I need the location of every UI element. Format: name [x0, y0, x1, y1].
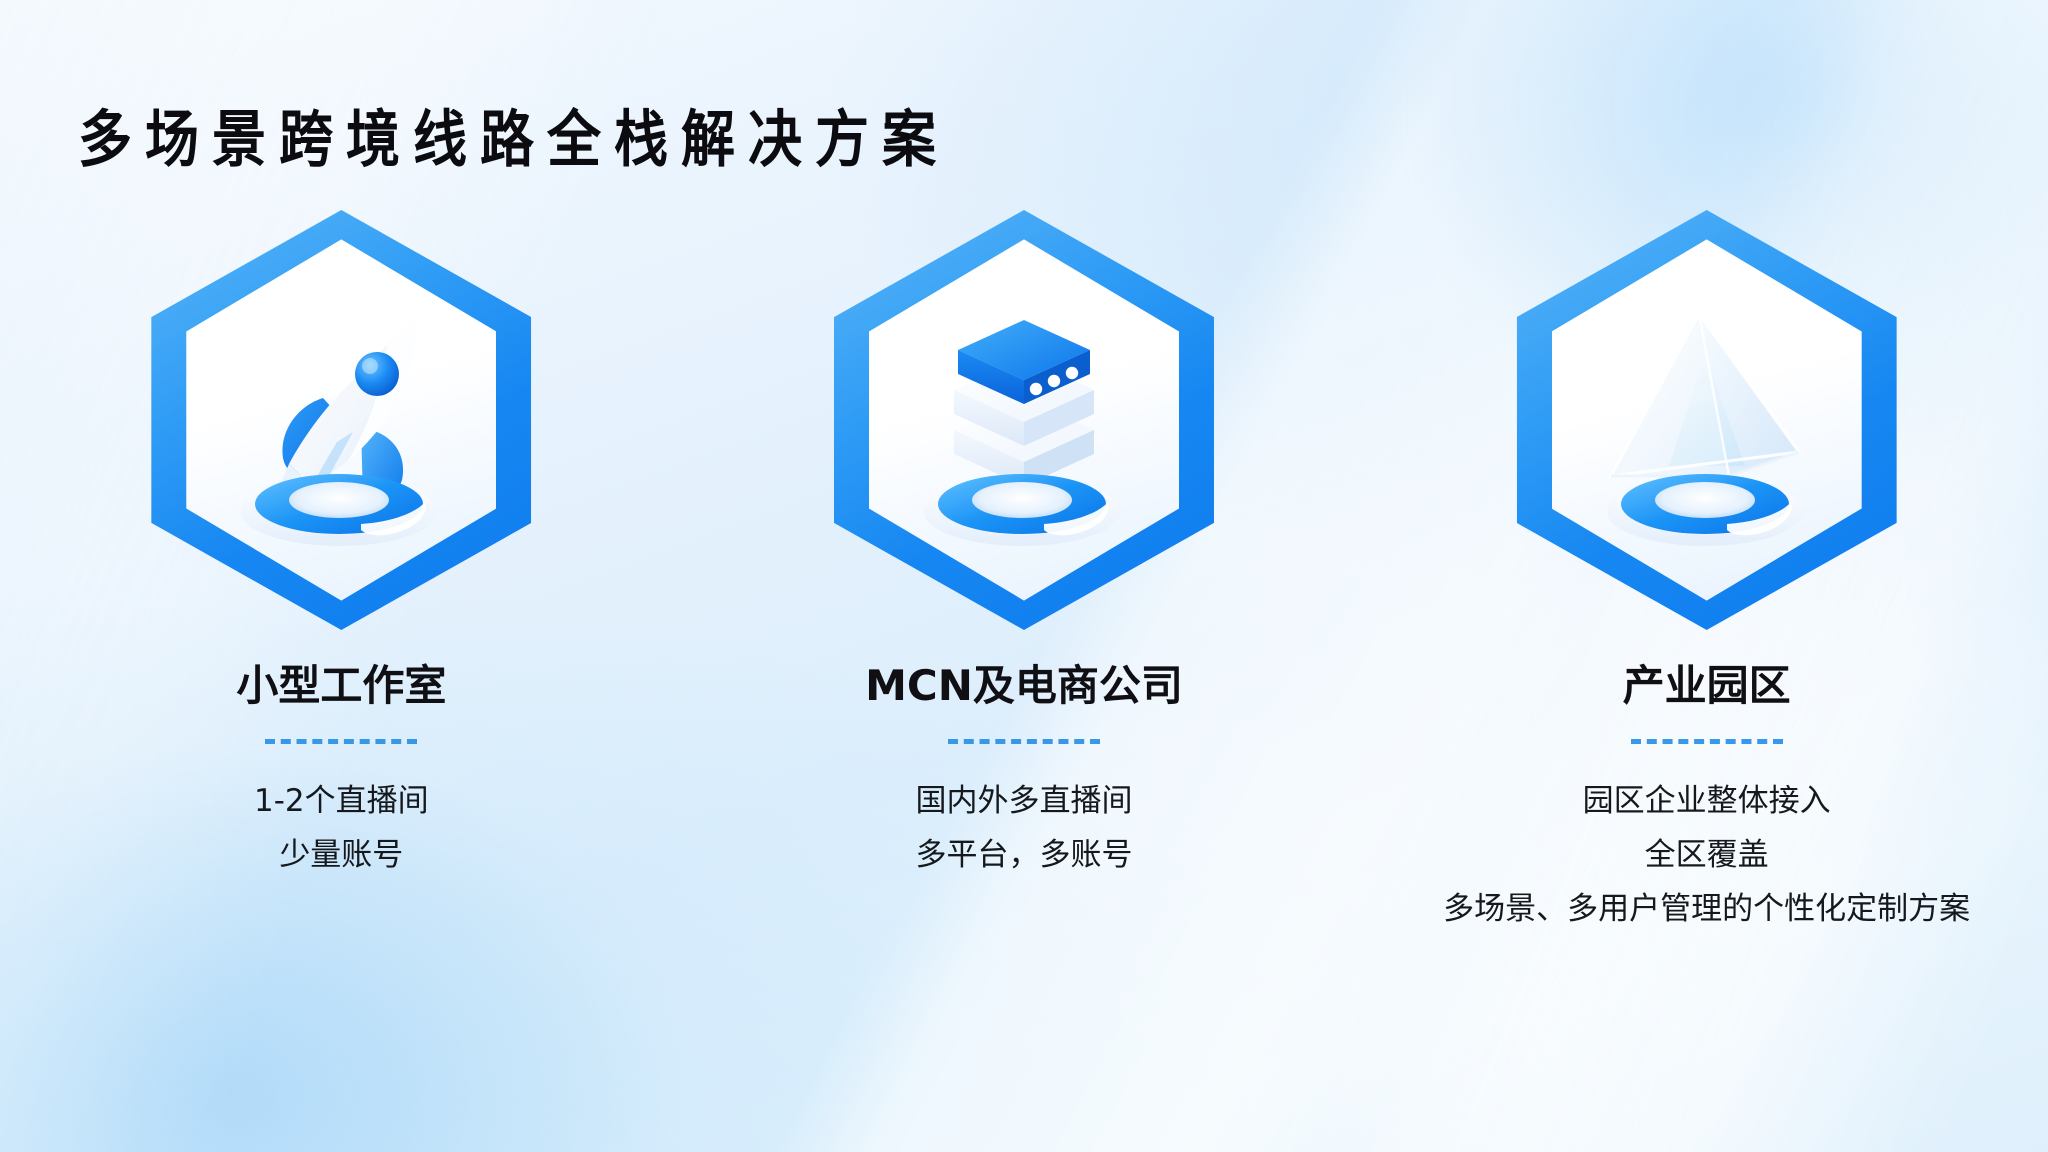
hexagon-badge — [1517, 210, 1897, 630]
card-description: 园区企业整体接入 全区覆盖 多场景、多用户管理的个性化定制方案 — [1443, 774, 1970, 936]
poster-canvas: 多场景跨境线路全栈解决方案 — [0, 0, 2048, 1152]
pyramid-icon — [1577, 280, 1837, 560]
page-title: 多场景跨境线路全栈解决方案 — [78, 108, 949, 173]
card-description: 国内外多直播间 多平台，多账号 — [915, 774, 1132, 882]
card-title: 小型工作室 — [236, 652, 446, 713]
card-divider — [1631, 739, 1783, 744]
hexagon-badge — [151, 210, 531, 630]
card-line: 多场景、多用户管理的个性化定制方案 — [1443, 882, 1970, 936]
scenario-card-list: 小型工作室 1-2个直播间 少量账号 — [0, 210, 2048, 936]
scenario-card[interactable]: 产业园区 园区企业整体接入 全区覆盖 多场景、多用户管理的个性化定制方案 — [1407, 210, 2007, 936]
card-line: 1-2个直播间 — [254, 774, 429, 828]
card-line: 少量账号 — [254, 828, 429, 882]
card-divider — [265, 739, 417, 744]
card-line: 园区企业整体接入 — [1443, 774, 1970, 828]
rocket-icon — [211, 280, 471, 560]
card-divider — [948, 739, 1100, 744]
hexagon-badge — [834, 210, 1214, 630]
server-stack-icon — [894, 280, 1154, 560]
card-title: MCN及电商公司 — [865, 652, 1183, 713]
scenario-card[interactable]: MCN及电商公司 国内外多直播间 多平台，多账号 — [724, 210, 1324, 882]
card-line: 多平台，多账号 — [915, 828, 1132, 882]
card-line: 国内外多直播间 — [915, 774, 1132, 828]
scenario-card[interactable]: 小型工作室 1-2个直播间 少量账号 — [41, 210, 641, 882]
card-description: 1-2个直播间 少量账号 — [254, 774, 429, 882]
card-line: 全区覆盖 — [1443, 828, 1970, 882]
card-title: 产业园区 — [1623, 652, 1791, 713]
